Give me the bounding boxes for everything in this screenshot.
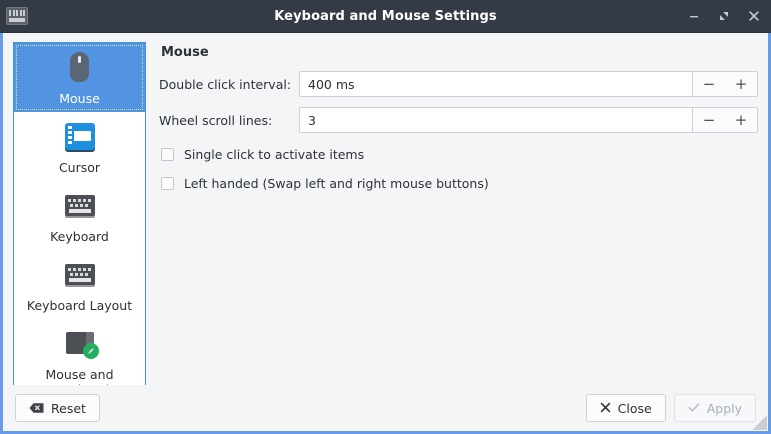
close-label: Close (618, 401, 652, 416)
touchpad-icon (63, 326, 97, 360)
sidebar-item-mouse-and-touchpad[interactable]: Mouse and Touchpad (14, 319, 145, 385)
double-click-interval-stepper[interactable]: 400 ms − + (299, 71, 758, 97)
sidebar-item-mouse[interactable]: Mouse (14, 43, 145, 112)
maximize-icon[interactable] (716, 8, 732, 24)
keyboard-icon (6, 7, 28, 25)
page-title: Mouse (161, 45, 758, 60)
cursor-icon (63, 119, 97, 153)
wheel-scroll-lines-decrement[interactable]: − (693, 108, 725, 132)
window-content: Mouse Cursor (3, 33, 768, 431)
wheel-scroll-lines-increment[interactable]: + (725, 108, 757, 132)
minimize-icon[interactable] (686, 8, 702, 24)
close-icon (600, 401, 611, 416)
sidebar-item-label: Cursor (59, 160, 100, 175)
wheel-scroll-lines-stepper[interactable]: 3 − + (299, 107, 758, 133)
double-click-interval-decrement[interactable]: − (693, 72, 725, 96)
left-handed-label[interactable]: Left handed (Swap left and right mouse b… (184, 176, 489, 191)
single-click-checkbox[interactable] (161, 148, 174, 161)
title-bar[interactable]: Keyboard and Mouse Settings (0, 0, 771, 33)
apply-label: Apply (707, 401, 742, 416)
settings-panel: Mouse Double click interval: 400 ms − + … (146, 42, 758, 385)
settings-window: Keyboard and Mouse Settings (0, 0, 771, 434)
sidebar-item-cursor[interactable]: Cursor (14, 112, 145, 181)
close-icon[interactable] (746, 8, 762, 24)
apply-button[interactable]: Apply (674, 394, 756, 422)
wheel-scroll-lines-row: Wheel scroll lines: 3 − + (159, 107, 758, 133)
close-button[interactable]: Close (586, 394, 666, 422)
wheel-scroll-lines-label: Wheel scroll lines: (159, 113, 299, 128)
sidebar-item-keyboard-layout[interactable]: Keyboard Layout (14, 250, 145, 319)
reset-label: Reset (51, 401, 86, 416)
double-click-interval-increment[interactable]: + (725, 72, 757, 96)
category-list[interactable]: Mouse Cursor (13, 42, 146, 385)
single-click-row[interactable]: Single click to activate items (161, 147, 758, 162)
mouse-icon (63, 50, 97, 84)
double-click-interval-input[interactable]: 400 ms (299, 71, 693, 97)
sidebar-item-label: Keyboard (50, 229, 109, 244)
resize-grip[interactable] (753, 416, 767, 430)
sidebar-item-label: Keyboard Layout (27, 298, 132, 313)
single-click-label[interactable]: Single click to activate items (184, 147, 364, 162)
action-bar: Reset Close (3, 385, 768, 431)
check-icon (688, 401, 700, 416)
window-controls (686, 8, 771, 24)
reset-button[interactable]: Reset (15, 394, 100, 422)
double-click-interval-label: Double click interval: (159, 77, 299, 92)
panes: Mouse Cursor (3, 33, 768, 385)
reset-icon (29, 402, 44, 414)
keyboard-layout-icon (63, 257, 97, 291)
sidebar-item-keyboard[interactable]: Keyboard (14, 181, 145, 250)
sidebar-item-label: Mouse and Touchpad (16, 367, 143, 385)
left-handed-row[interactable]: Left handed (Swap left and right mouse b… (161, 176, 758, 191)
keyboard-icon (63, 188, 97, 222)
wheel-scroll-lines-input[interactable]: 3 (299, 107, 693, 133)
sidebar-item-label: Mouse (59, 91, 100, 106)
left-handed-checkbox[interactable] (161, 177, 174, 190)
dialog-buttons: Close Apply (586, 394, 756, 422)
window-title: Keyboard and Mouse Settings (0, 0, 771, 32)
double-click-interval-row: Double click interval: 400 ms − + (159, 71, 758, 97)
